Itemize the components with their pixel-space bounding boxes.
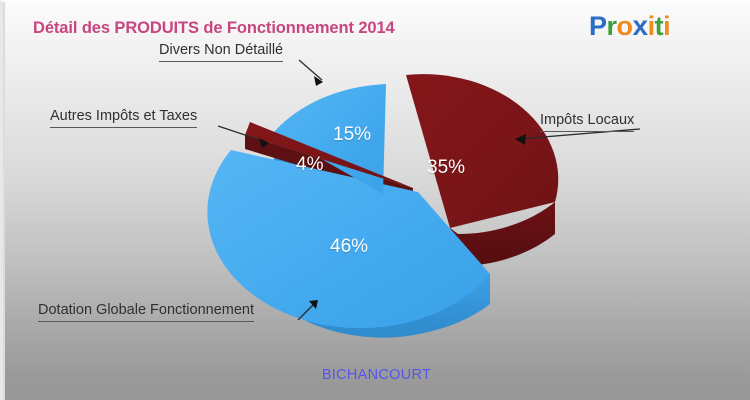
callout-label-impots-locaux: Impôts Locaux	[540, 112, 634, 132]
chart-canvas: Détail des PRODUITS de Fonctionnement 20…	[0, 0, 750, 400]
slice-value-dotation-globale: 46%	[330, 236, 368, 258]
logo-letter-p: P	[589, 11, 607, 41]
logo-letter-i2: i	[663, 11, 670, 41]
proxiti-logo: Proxiti	[589, 12, 670, 40]
commune-caption: BICHANCOURT	[3, 367, 750, 383]
logo-letter-r: r	[607, 11, 617, 41]
page-title: Détail des PRODUITS de Fonctionnement 20…	[33, 19, 395, 38]
logo-letter-x: x	[633, 10, 648, 41]
callout-label-autres-impots-et-taxes: Autres Impôts et Taxes	[50, 108, 197, 128]
slice-value-divers-non-detaille: 15%	[333, 124, 371, 146]
pie-chart	[3, 2, 750, 400]
logo-letter-o: o	[617, 11, 633, 41]
slice-value-impots-locaux: 35%	[427, 157, 465, 179]
logo-letter-t: t	[655, 11, 664, 41]
leader-line-divers	[299, 60, 322, 80]
logo-letter-i1: i	[648, 11, 655, 41]
callout-label-dotation-globale-fonctionnement: Dotation Globale Fonctionnement	[38, 302, 254, 322]
slice-value-autres-impots: 4%	[296, 154, 323, 176]
callout-label-divers-non-detaille: Divers Non Détaillé	[159, 42, 283, 62]
